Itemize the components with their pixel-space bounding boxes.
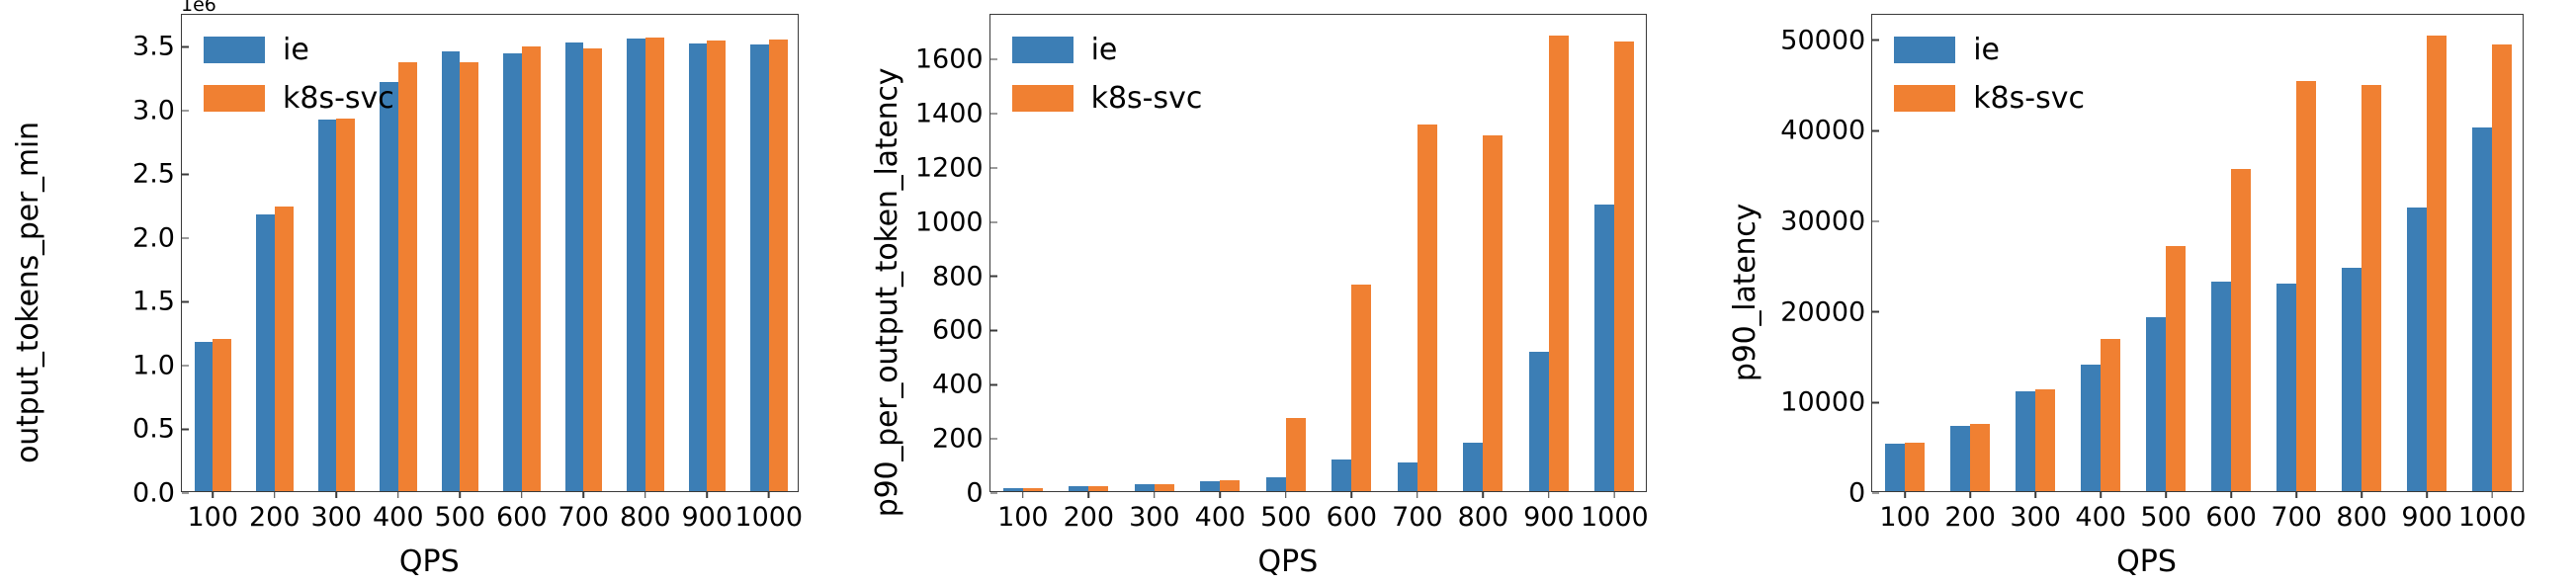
bar-k8s-svc-1000	[769, 40, 788, 491]
legend-item-k8s-svc[interactable]: k8s-svc	[1894, 81, 2085, 116]
x-tick-mark	[1285, 491, 1287, 498]
y-tick: 0.5	[132, 414, 182, 445]
y-tick: 10000	[1780, 387, 1872, 418]
y-tick-mark	[182, 365, 189, 367]
bar-k8s-svc-400	[398, 62, 417, 491]
bar-k8s-svc-300	[2035, 389, 2055, 491]
y-tick-label: 3.5	[132, 32, 182, 62]
y-tick-label: 50000	[1780, 25, 1872, 55]
legend: iek8s-svc	[1012, 33, 1203, 116]
x-tick: 100	[187, 491, 238, 533]
bar-k8s-svc-500	[460, 62, 478, 491]
y-tick-mark	[1872, 220, 1879, 222]
y-tick-label: 1.0	[132, 350, 182, 380]
x-tick-label: 800	[620, 502, 671, 533]
y-tick: 50000	[1780, 25, 1872, 55]
bar-ie-300	[1135, 484, 1155, 491]
x-tick-mark	[1548, 491, 1550, 498]
x-axis-label: QPS	[1717, 544, 2576, 579]
x-tick: 600	[2205, 491, 2257, 533]
x-tick-label: 700	[1392, 502, 1443, 533]
y-tick-mark	[990, 167, 997, 169]
x-tick-mark	[521, 491, 523, 498]
x-tick: 700	[558, 491, 609, 533]
y-tick-mark	[990, 113, 997, 115]
bar-ie-900	[1529, 352, 1549, 491]
y-tick: 1200	[915, 152, 990, 183]
legend-label-ie: ie	[283, 33, 309, 67]
bar-ie-300	[318, 120, 337, 491]
y-tick: 800	[932, 261, 990, 292]
x-tick: 1000	[2458, 491, 2527, 533]
legend-swatch-ie	[1894, 37, 1955, 63]
legend-swatch-ie	[1012, 37, 1073, 63]
y-tick-label: 1400	[915, 99, 990, 129]
bar-k8s-svc-300	[1155, 484, 1174, 491]
x-tick-label: 300	[1129, 502, 1180, 533]
x-tick-mark	[1022, 491, 1024, 498]
y-tick-mark	[182, 429, 189, 431]
bar-k8s-svc-900	[2427, 36, 2447, 491]
y-tick-mark	[990, 330, 997, 332]
y-tick-label: 600	[932, 315, 990, 346]
bar-ie-400	[380, 82, 398, 491]
x-tick-mark	[1483, 491, 1485, 498]
y-tick-mark	[1872, 402, 1879, 404]
bar-k8s-svc-800	[2361, 85, 2381, 491]
x-axis-label: QPS	[0, 544, 859, 579]
legend: iek8s-svc	[204, 33, 394, 116]
bar-k8s-svc-400	[1220, 480, 1240, 491]
x-tick: 100	[997, 491, 1049, 533]
bar-ie-800	[627, 39, 645, 491]
x-tick-mark	[2491, 491, 2493, 498]
y-tick-mark	[182, 46, 189, 48]
x-tick: 600	[496, 491, 548, 533]
y-tick-mark	[182, 301, 189, 303]
x-tick: 400	[373, 491, 424, 533]
x-tick-label: 400	[373, 502, 424, 533]
x-tick-mark	[582, 491, 584, 498]
x-tick-label: 500	[1260, 502, 1312, 533]
x-tick-mark	[2100, 491, 2102, 498]
bar-ie-700	[1398, 462, 1417, 491]
x-tick-mark	[1969, 491, 1971, 498]
y-tick: 1400	[915, 99, 990, 129]
x-tick-mark	[2361, 491, 2362, 498]
y-tick-label: 2.0	[132, 222, 182, 253]
x-tick: 900	[2401, 491, 2452, 533]
bar-ie-600	[2211, 282, 2231, 491]
chart-panel-2: p90_per_output_token_latencyQPS020040060…	[859, 0, 1718, 585]
x-tick-mark	[1088, 491, 1090, 498]
x-tick-label: 1000	[1581, 502, 1649, 533]
y-axis-label: p90_latency	[1717, 0, 1772, 585]
y-tick: 400	[932, 370, 990, 400]
legend-item-ie[interactable]: ie	[1012, 33, 1203, 67]
y-tick-mark	[990, 276, 997, 278]
x-tick: 1000	[734, 491, 803, 533]
x-tick-label: 900	[1523, 502, 1575, 533]
bar-k8s-svc-1000	[1614, 42, 1634, 491]
plot-area: 0100002000030000400005000010020030040050…	[1871, 14, 2524, 492]
legend-item-ie[interactable]: ie	[1894, 33, 2085, 67]
y-tick-label: 200	[932, 424, 990, 455]
y-tick-label: 0.5	[132, 414, 182, 445]
y-tick-mark	[990, 492, 997, 494]
bar-ie-600	[503, 53, 522, 491]
bar-k8s-svc-300	[336, 119, 355, 491]
x-tick-mark	[1417, 491, 1418, 498]
x-tick: 400	[1195, 491, 1246, 533]
y-tick: 1.0	[132, 350, 182, 380]
x-tick-mark	[335, 491, 337, 498]
x-tick-mark	[2295, 491, 2297, 498]
bar-k8s-svc-500	[2166, 246, 2186, 491]
legend-label-k8s-svc: k8s-svc	[283, 81, 394, 116]
y-tick: 1600	[915, 44, 990, 75]
y-tick: 0	[1848, 478, 1872, 509]
x-tick-label: 600	[1327, 502, 1378, 533]
x-tick-label: 800	[2336, 502, 2387, 533]
y-tick-mark	[1872, 130, 1879, 132]
x-tick-label: 500	[434, 502, 485, 533]
x-tick-mark	[1220, 491, 1222, 498]
x-tick-label: 200	[1944, 502, 1996, 533]
bar-ie-600	[1331, 460, 1351, 491]
plot-inner: 0.00.51.01.52.02.53.03.51002003004005006…	[182, 15, 798, 491]
y-tick: 3.5	[132, 32, 182, 62]
legend-swatch-k8s-svc	[204, 85, 265, 112]
y-tick-label: 400	[932, 370, 990, 400]
bar-ie-100	[1885, 444, 1905, 491]
x-tick: 300	[310, 491, 362, 533]
y-tick-label: 1000	[915, 207, 990, 237]
y-tick-label: 2.5	[132, 159, 182, 190]
plot-inner: 0100002000030000400005000010020030040050…	[1872, 15, 2523, 491]
y-tick-mark	[990, 58, 997, 60]
x-tick-mark	[1351, 491, 1353, 498]
chart-panel-1: output_tokens_per_minQPS1e60.00.51.01.52…	[0, 0, 859, 585]
y-tick: 200	[932, 424, 990, 455]
legend-label-ie: ie	[1091, 33, 1118, 67]
y-tick-mark	[1872, 40, 1879, 42]
bar-ie-100	[195, 342, 214, 491]
figure-canvas: output_tokens_per_minQPS1e60.00.51.01.52…	[0, 0, 2576, 585]
y-tick: 0	[966, 478, 989, 509]
x-tick: 200	[1064, 491, 1115, 533]
x-tick-mark	[2230, 491, 2232, 498]
x-tick-mark	[459, 491, 461, 498]
bar-k8s-svc-100	[1905, 443, 1925, 491]
x-tick-mark	[274, 491, 276, 498]
x-tick-mark	[2426, 491, 2428, 498]
bar-k8s-svc-800	[1483, 135, 1503, 491]
bar-k8s-svc-600	[522, 46, 541, 491]
x-tick: 1000	[1581, 491, 1649, 533]
x-tick: 800	[2336, 491, 2387, 533]
y-tick-mark	[182, 174, 189, 176]
x-tick-label: 600	[496, 502, 548, 533]
x-tick-mark	[1154, 491, 1156, 498]
y-tick: 0.0	[132, 478, 182, 509]
y-tick-label: 20000	[1780, 296, 1872, 327]
bar-k8s-svc-900	[707, 41, 726, 491]
y-tick-mark	[990, 384, 997, 386]
x-tick-label: 1000	[2458, 502, 2527, 533]
y-tick-label: 1600	[915, 44, 990, 75]
x-tick-mark	[212, 491, 214, 498]
x-tick-label: 100	[187, 502, 238, 533]
y-tick-label: 0	[966, 478, 989, 509]
bar-ie-500	[2146, 317, 2166, 491]
x-tick-mark	[768, 491, 770, 498]
y-tick-label: 10000	[1780, 387, 1872, 418]
bar-k8s-svc-100	[213, 339, 231, 491]
y-axis-label: output_tokens_per_min	[0, 0, 55, 585]
bar-ie-1000	[1594, 205, 1614, 491]
bar-k8s-svc-800	[645, 38, 664, 491]
legend: iek8s-svc	[1894, 33, 2085, 116]
x-tick-label: 200	[1064, 502, 1115, 533]
y-tick: 20000	[1780, 296, 1872, 327]
bar-k8s-svc-1000	[2492, 44, 2512, 491]
bar-ie-800	[1463, 443, 1483, 491]
y-tick: 2.5	[132, 159, 182, 190]
legend-item-ie[interactable]: ie	[204, 33, 394, 67]
x-tick: 200	[249, 491, 301, 533]
plot-area: 0.00.51.01.52.02.53.03.51002003004005006…	[181, 14, 799, 492]
bar-ie-300	[2016, 391, 2035, 491]
x-tick: 700	[2271, 491, 2322, 533]
y-tick-mark	[1872, 311, 1879, 313]
x-tick: 600	[1327, 491, 1378, 533]
x-axis-label: QPS	[859, 544, 1718, 579]
bar-ie-700	[565, 42, 584, 491]
y-tick: 30000	[1780, 207, 1872, 237]
y-tick-mark	[990, 221, 997, 223]
bar-k8s-svc-600	[2231, 169, 2251, 491]
x-tick-label: 600	[2205, 502, 2257, 533]
x-tick-label: 900	[2401, 502, 2452, 533]
legend-swatch-ie	[204, 37, 265, 63]
x-tick-label: 700	[558, 502, 609, 533]
x-tick: 300	[1129, 491, 1180, 533]
y-tick-mark	[182, 110, 189, 112]
legend-swatch-k8s-svc	[1012, 85, 1073, 112]
x-tick-label: 400	[2075, 502, 2126, 533]
y-tick-label: 40000	[1780, 116, 1872, 146]
bar-ie-700	[2276, 284, 2296, 491]
x-tick-label: 1000	[734, 502, 803, 533]
bar-ie-900	[2407, 208, 2427, 491]
y-tick: 600	[932, 315, 990, 346]
x-tick-mark	[397, 491, 399, 498]
plot-inner: 0200400600800100012001400160010020030040…	[990, 15, 1646, 491]
y-tick-label: 1200	[915, 152, 990, 183]
x-tick: 100	[1879, 491, 1931, 533]
bar-k8s-svc-200	[275, 207, 294, 491]
x-tick: 200	[1944, 491, 1996, 533]
x-tick-mark	[2165, 491, 2167, 498]
x-tick-mark	[706, 491, 708, 498]
y-tick-mark	[182, 237, 189, 239]
x-tick-label: 300	[2010, 502, 2061, 533]
y-axis-label: p90_per_output_token_latency	[859, 0, 914, 585]
x-tick-mark	[1904, 491, 1906, 498]
y-tick-label: 800	[932, 261, 990, 292]
bar-k8s-svc-500	[1286, 418, 1306, 491]
bar-ie-200	[1950, 426, 1970, 491]
bar-ie-1000	[750, 44, 769, 491]
y-tick-mark	[1872, 492, 1879, 494]
bar-ie-400	[1200, 481, 1220, 491]
x-tick-label: 700	[2271, 502, 2322, 533]
x-tick: 500	[2140, 491, 2191, 533]
y-tick: 1.5	[132, 287, 182, 317]
x-tick: 500	[434, 491, 485, 533]
x-tick: 800	[620, 491, 671, 533]
y-tick-label: 30000	[1780, 207, 1872, 237]
bar-ie-800	[2342, 268, 2361, 491]
bar-k8s-svc-900	[1549, 36, 1569, 491]
bar-ie-500	[1266, 477, 1286, 491]
x-tick-mark	[1614, 491, 1616, 498]
y-tick-label: 0	[1848, 478, 1872, 509]
x-tick-label: 100	[1879, 502, 1931, 533]
legend-label-k8s-svc: k8s-svc	[1091, 81, 1203, 116]
x-tick-mark	[2034, 491, 2036, 498]
x-tick: 300	[2010, 491, 2061, 533]
bar-k8s-svc-700	[2296, 81, 2316, 491]
x-tick-label: 500	[2140, 502, 2191, 533]
plot-area: 0200400600800100012001400160010020030040…	[989, 14, 1647, 492]
y-tick-label: 1.5	[132, 287, 182, 317]
legend-label-k8s-svc: k8s-svc	[1973, 81, 2085, 116]
bar-ie-200	[256, 214, 275, 491]
bar-k8s-svc-400	[2101, 339, 2120, 491]
legend-item-k8s-svc[interactable]: k8s-svc	[204, 81, 394, 116]
x-tick-mark	[644, 491, 646, 498]
y-tick: 40000	[1780, 116, 1872, 146]
legend-swatch-k8s-svc	[1894, 85, 1955, 112]
y-tick: 2.0	[132, 222, 182, 253]
bar-k8s-svc-600	[1351, 285, 1371, 491]
y-tick: 1000	[915, 207, 990, 237]
legend-item-k8s-svc[interactable]: k8s-svc	[1012, 81, 1203, 116]
bar-k8s-svc-700	[1417, 125, 1437, 491]
bar-ie-1000	[2472, 127, 2492, 492]
bar-ie-500	[442, 51, 461, 491]
y-tick-mark	[990, 438, 997, 440]
chart-panel-3: p90_latencyQPS01000020000300004000050000…	[1717, 0, 2576, 585]
bar-k8s-svc-700	[583, 48, 602, 491]
x-tick-label: 100	[997, 502, 1049, 533]
x-tick: 400	[2075, 491, 2126, 533]
x-tick: 700	[1392, 491, 1443, 533]
x-tick: 900	[1523, 491, 1575, 533]
bar-ie-400	[2081, 365, 2101, 491]
x-tick-label: 900	[681, 502, 732, 533]
y-tick-label: 0.0	[132, 478, 182, 509]
y-tick: 3.0	[132, 95, 182, 125]
x-tick: 800	[1458, 491, 1509, 533]
x-tick: 500	[1260, 491, 1312, 533]
x-tick-label: 300	[310, 502, 362, 533]
x-tick-label: 400	[1195, 502, 1246, 533]
bar-ie-900	[689, 43, 708, 491]
bar-k8s-svc-200	[1970, 424, 1990, 491]
x-tick-label: 200	[249, 502, 301, 533]
x-tick: 900	[681, 491, 732, 533]
y-tick-label: 3.0	[132, 95, 182, 125]
legend-label-ie: ie	[1973, 33, 2000, 67]
x-tick-label: 800	[1458, 502, 1509, 533]
